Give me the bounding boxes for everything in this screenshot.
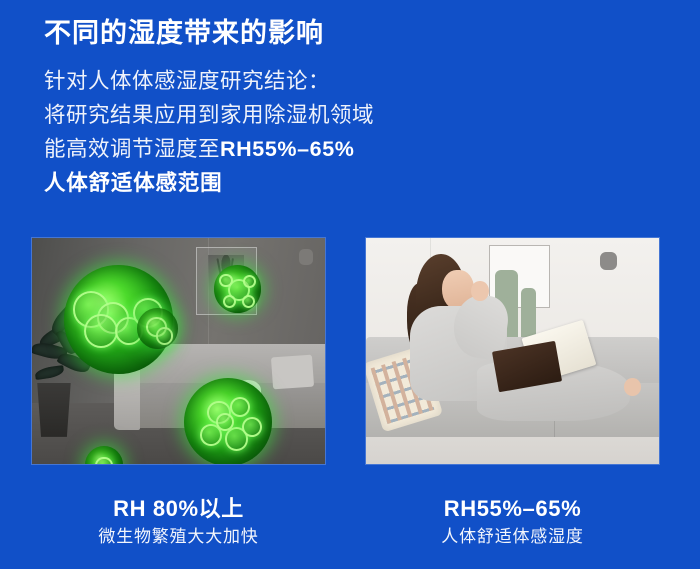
caption-comfort-humidity: RH55%–65% 人体舒适体感湿度: [366, 494, 659, 550]
photo-comfort-humidity: [366, 238, 659, 464]
intro-paragraph: 针对人体体感湿度研究结论： 将研究结果应用到家用除湿机领域 能高效调节湿度至RH…: [44, 64, 664, 200]
microbe-cluster-lower: [184, 378, 272, 464]
intro-line-3: 能高效调节湿度至RH55%–65%: [44, 132, 664, 166]
intro-humidity-range: RH55%–65%: [220, 137, 354, 161]
humidity-comparison-poster: 不同的湿度带来的影响 针对人体体感湿度研究结论： 将研究结果应用到家用除湿机领域…: [0, 0, 700, 569]
wall-speaker-icon: [600, 252, 616, 270]
microbe-small-top: [214, 265, 261, 312]
plant-pot: [35, 383, 73, 437]
sofa-cushion: [271, 354, 314, 388]
wall-speaker-icon: [299, 249, 314, 265]
photo-high-humidity: [32, 238, 325, 464]
intro-line-1: 针对人体体感湿度研究结论：: [44, 64, 664, 98]
caption-subtitle: 人体舒适体感湿度: [366, 524, 659, 550]
caption-subtitle: 微生物繁殖大大加快: [32, 524, 325, 550]
microbe-room-illustration: [32, 238, 325, 464]
woman-reading-illustration: [366, 238, 659, 464]
page-title: 不同的湿度带来的影响: [44, 14, 664, 52]
headline-block: 不同的湿度带来的影响 针对人体体感湿度研究结论： 将研究结果应用到家用除湿机领域…: [44, 14, 664, 200]
caption-title: RH 80%以上: [32, 494, 325, 524]
intro-line-4: 人体舒适体感范围: [44, 166, 664, 200]
intro-line-3-prefix: 能高效调节湿度至: [44, 137, 220, 161]
sofa-armrest: [114, 365, 140, 431]
caption-title: RH55%–65%: [366, 494, 659, 524]
intro-line-2: 将研究结果应用到家用除湿机领域: [44, 98, 664, 132]
caption-high-humidity: RH 80%以上 微生物繁殖大大加快: [32, 494, 325, 550]
microbe-partial: [137, 308, 178, 349]
